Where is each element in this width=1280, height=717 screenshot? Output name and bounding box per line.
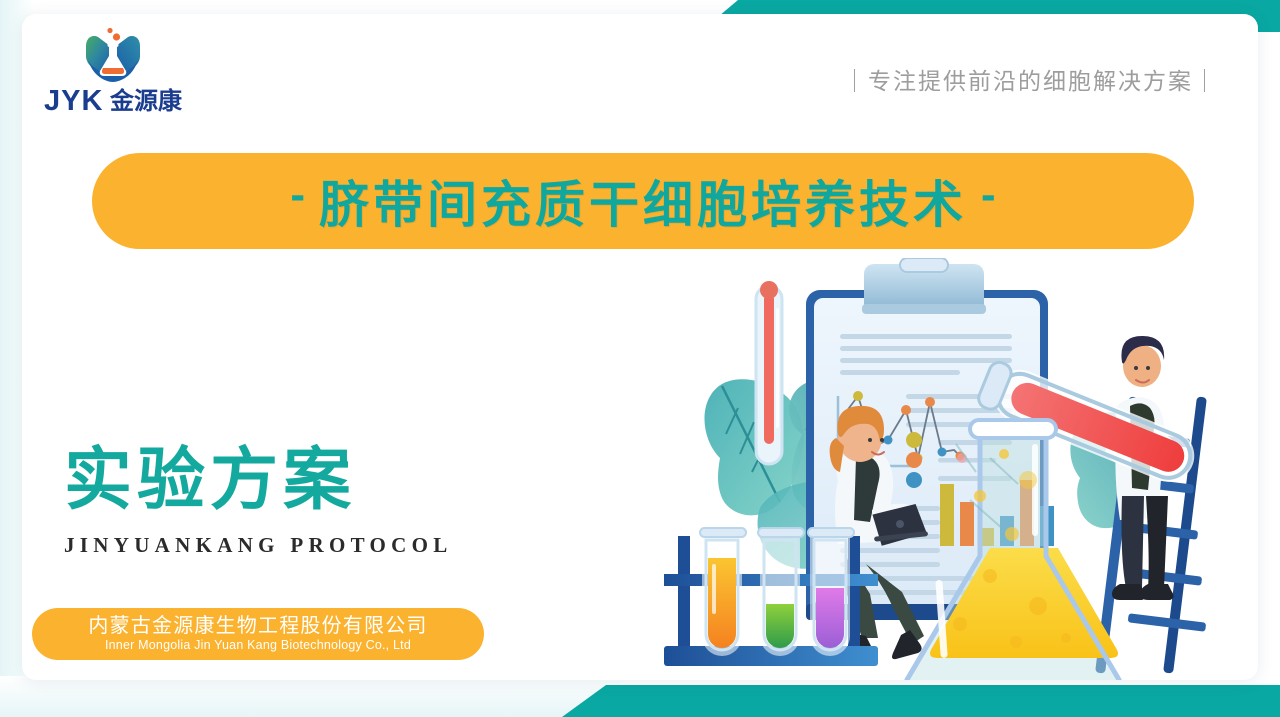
brand-logo[interactable]: JYK 金源康 — [44, 26, 244, 118]
thermometer-icon — [756, 281, 782, 464]
title-banner: - 脐带间充质干细胞培养技术 - — [92, 153, 1194, 249]
svg-text:JYK: JYK — [44, 85, 103, 116]
svg-text:金源康: 金源康 — [109, 87, 183, 115]
tube-purple — [808, 528, 854, 656]
subject-heading: 实验方案 — [64, 446, 356, 514]
title-dash-right: - — [967, 170, 1010, 220]
test-tube-rack — [664, 528, 878, 666]
legend-dots — [906, 432, 922, 488]
page-title: 脐带间充质干细胞培养技术 — [319, 165, 967, 237]
laboratory-research-illustration — [660, 258, 1220, 680]
brand-wordmark: JYK 金源康 — [44, 84, 234, 116]
brand-tagline: ｜专注提供前沿的细胞解决方案｜ — [843, 62, 1218, 96]
company-name-cn: 内蒙古金源康生物工程股份有限公司 — [88, 615, 427, 638]
subject-subheading: JINYUANKANG PROTOCOL — [64, 533, 453, 558]
company-badge: 内蒙古金源康生物工程股份有限公司 Inner Mongolia Jin Yuan… — [32, 608, 484, 660]
tube-green — [758, 528, 804, 656]
company-name-en: Inner Mongolia Jin Yuan Kang Biotechnolo… — [105, 638, 411, 654]
slide-root: JYK 金源康 ｜专注提供前沿的细胞解决方案｜ - 脐带间充质干细胞培养技术 -… — [0, 0, 1280, 717]
title-dash-left: - — [276, 170, 319, 220]
tube-orange — [700, 528, 746, 656]
flask-in-shield-logo-icon — [76, 26, 150, 84]
bottom-right-teal-band — [562, 685, 1280, 717]
bottom-edge-tint — [0, 676, 620, 717]
